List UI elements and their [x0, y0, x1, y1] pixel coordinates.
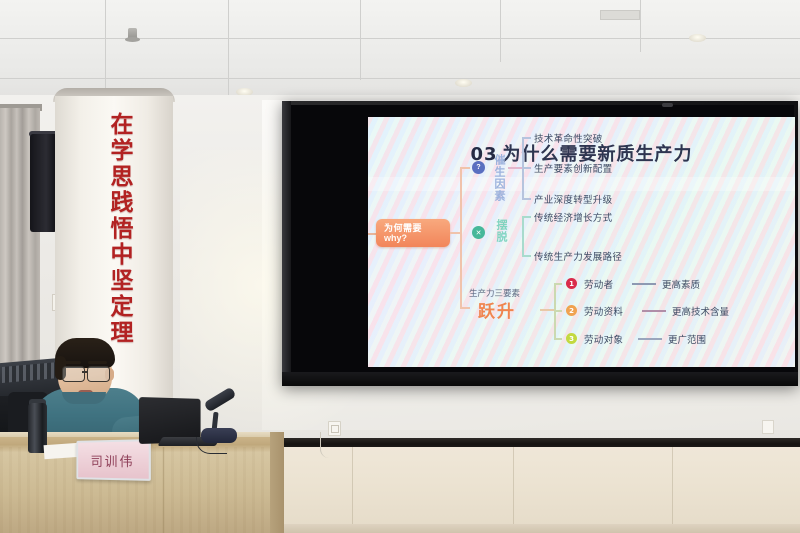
- mindmap-spine-mid: [450, 232, 462, 234]
- outlet-cable: [320, 432, 335, 458]
- sprinkler-head: [128, 28, 137, 41]
- slide-title-band: [368, 177, 795, 191]
- branch3-item-tick: [554, 338, 562, 340]
- branch1-title: 催生因素: [490, 154, 504, 202]
- branch1-leaf: 技术革命性突破: [534, 131, 603, 145]
- branch2-leaf-tick: [522, 216, 531, 218]
- wall-speaker: [30, 134, 57, 232]
- desk-right-edge: [270, 432, 284, 533]
- branch3-item-value: 更高技术含量: [672, 304, 729, 318]
- screen-indicator-led: [662, 103, 673, 107]
- name-plate-text: 司训伟: [91, 450, 135, 470]
- presenter-eyebrow-left: [62, 361, 81, 364]
- break-free-icon: ✕: [472, 226, 485, 239]
- branch3-item-label: 劳动者: [584, 277, 613, 291]
- branch1-leaf-tick: [522, 167, 531, 169]
- branch3-number-badge: 1: [566, 278, 577, 289]
- branch3-item-tick: [554, 310, 562, 312]
- mindmap-spine: [460, 167, 462, 309]
- branch3-link-line: [638, 338, 662, 340]
- branch2-vbar: [522, 216, 524, 256]
- mindmap-center-node: 为何需要 why?: [376, 219, 450, 247]
- desk-panel-seam: [163, 447, 164, 533]
- presentation-slide: 03为什么需要新质生产力 为何需要 why? ? 催生因素 技术革命性突破 生产…: [368, 117, 795, 367]
- presenter-eyebrow-right: [88, 361, 107, 364]
- mindmap-spine-top: [460, 167, 470, 169]
- branch3-item-value: 更高素质: [662, 277, 700, 291]
- branch2-leaf: 传统生产力发展路径: [534, 249, 622, 263]
- ceiling-downlight: [455, 79, 472, 87]
- branch3-item-label: 劳动对象: [584, 332, 623, 346]
- center-node-line2: why?: [384, 233, 407, 243]
- branch3-connector: [540, 309, 554, 311]
- ceiling-downlight: [689, 34, 706, 42]
- branch3-link-line: [642, 310, 666, 312]
- eyeglasses-bridge: [82, 371, 88, 373]
- desk-papers[interactable]: [44, 443, 81, 459]
- branch1-connector: [508, 167, 522, 169]
- wall-calligraphy-text: 在学思践悟中坚定理: [98, 112, 134, 346]
- ceiling-vent: [600, 10, 640, 20]
- power-outlet[interactable]: [762, 420, 774, 434]
- branch3-link-line: [632, 283, 656, 285]
- branch2-title: 摆脱: [492, 219, 506, 243]
- branch1-leaf-tick: [522, 137, 531, 139]
- screen-bottom-bezel: [282, 372, 798, 386]
- eyeglasses-left-lens: [62, 366, 85, 382]
- presenter-collar: [62, 392, 106, 404]
- branch1-leaf: 产业深度转型升级: [534, 192, 612, 206]
- lightbulb-icon: ?: [472, 161, 485, 174]
- branch3-item-label: 劳动资料: [584, 304, 623, 318]
- branch1-leaf: 生产要素创新配置: [534, 161, 612, 175]
- screen-left-bezel: [282, 101, 291, 386]
- branch3-number-badge: 3: [566, 333, 577, 344]
- branch1-leaf-tick: [522, 198, 531, 200]
- mindmap-spine-bottom: [460, 307, 470, 309]
- branch3-item-tick: [554, 283, 562, 285]
- branch2-leaf: 传统经济增长方式: [534, 210, 612, 224]
- branch3-item-value: 更广范围: [668, 332, 706, 346]
- branch3-number-badge: 2: [566, 305, 577, 316]
- center-node-line1: 为何需要: [384, 223, 422, 233]
- eyeglasses-right-lens: [87, 366, 110, 382]
- branch2-leaf-tick: [522, 255, 531, 257]
- branch3-title: 跃升: [478, 297, 516, 322]
- lecture-hall-scene: 在学思践悟中坚定理 03为什么需要新质生产力 为何需要 why? ? 催生因素 …: [0, 0, 800, 533]
- name-plate: 司训伟: [76, 439, 150, 481]
